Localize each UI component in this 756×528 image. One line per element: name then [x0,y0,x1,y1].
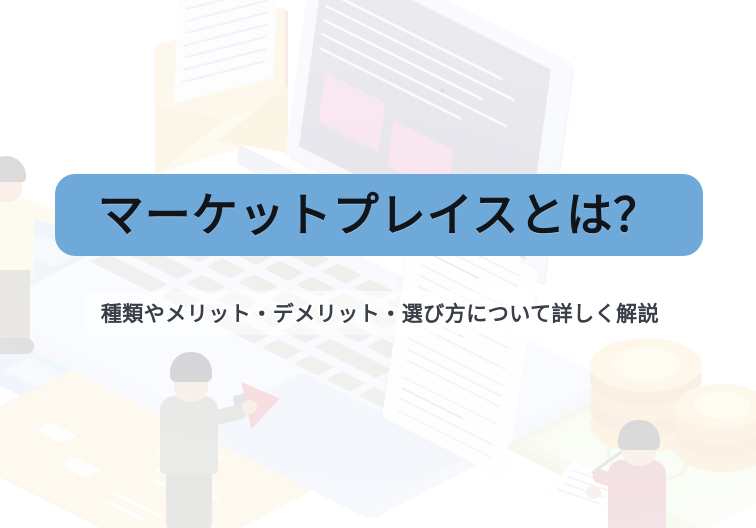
person-with-megaphone [150,352,270,528]
title-banner-box: マーケットプレイスとは？ [55,174,703,256]
banner-image: マーケットプレイスとは？ 種類やメリット・デメリット・選び方について詳しく解説 [0,0,756,528]
page-subtitle: 種類やメリット・デメリット・選び方について詳しく解説 [82,291,678,335]
laptop-camera-icon [440,88,445,93]
page-title: マーケットプレイスとは？ [98,192,661,238]
person-writing-notes [594,420,704,528]
